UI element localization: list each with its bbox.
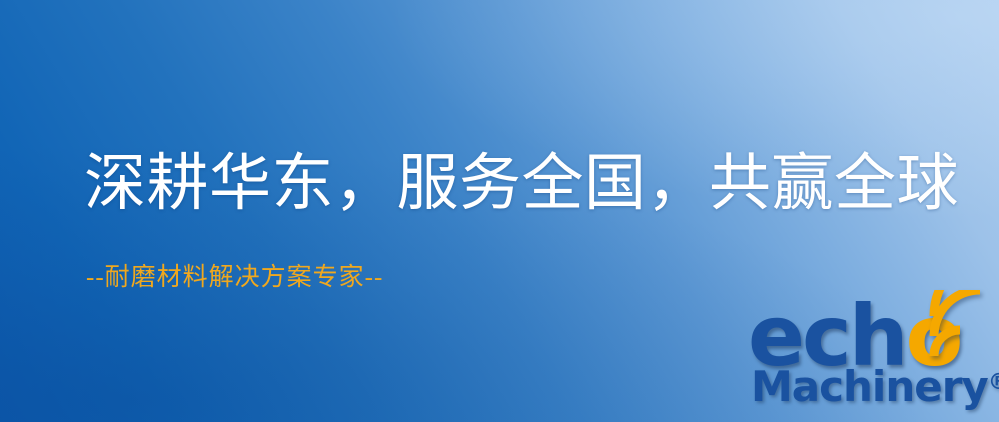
- registered-trademark-icon: ®: [988, 370, 999, 395]
- logo-subword: Machinery®: [751, 366, 999, 408]
- echo-machinery-logo[interactable]: echo Machinery®: [748, 294, 999, 422]
- banner-headline: 深耕华东，服务全国，共赢全球: [84, 152, 959, 217]
- signal-waves-icon: [926, 290, 999, 362]
- promo-banner: 深耕华东，服务全国，共赢全球 --耐磨材料解决方案专家-- echo Machi…: [0, 0, 999, 422]
- logo-subword-text: Machinery: [751, 362, 988, 411]
- banner-subtitle: --耐磨材料解决方案专家--: [86, 264, 383, 292]
